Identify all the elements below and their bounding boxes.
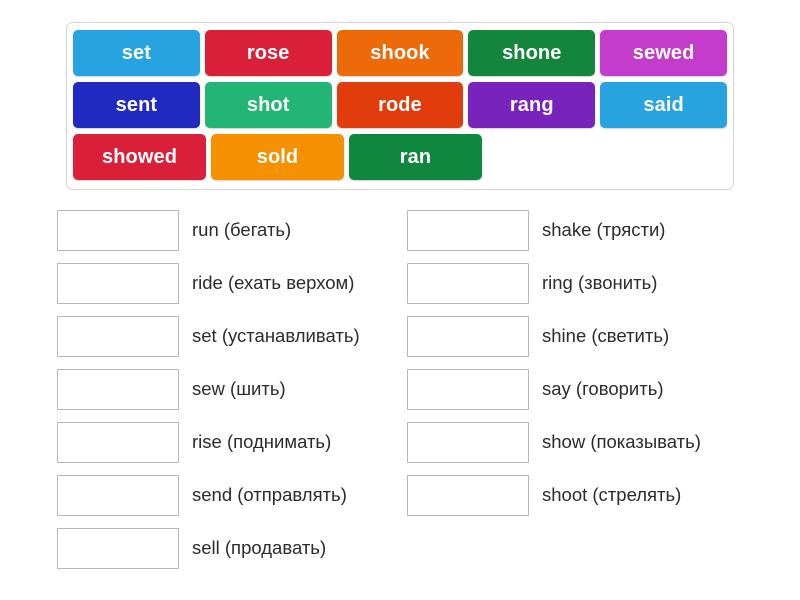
word-tile[interactable]: sold (211, 134, 344, 180)
answer-column: shake (трясти)ring (звонить)shine (свети… (407, 204, 757, 575)
verb-prompt-label: ride (ехать верхом) (192, 272, 354, 294)
verb-prompt-label: say (говорить) (542, 378, 664, 400)
verb-prompt-label: sew (шить) (192, 378, 286, 400)
drop-slot[interactable] (407, 369, 529, 410)
word-bank-row: showedsoldran (73, 134, 727, 180)
word-tile[interactable]: rode (337, 82, 464, 128)
verb-prompt-label: ring (звонить) (542, 272, 657, 294)
answer-row: rise (поднимать) (57, 416, 407, 469)
verb-prompt-label: shoot (стрелять) (542, 484, 681, 506)
word-bank-row: sentshotroderangsaid (73, 82, 727, 128)
drop-slot[interactable] (407, 316, 529, 357)
word-tile[interactable]: said (600, 82, 727, 128)
drop-slot[interactable] (57, 475, 179, 516)
word-bank-row: setroseshookshonesewed (73, 30, 727, 76)
word-tile[interactable]: rose (205, 30, 332, 76)
answer-row: ring (звонить) (407, 257, 757, 310)
answer-row: sew (шить) (57, 363, 407, 416)
drop-slot[interactable] (57, 316, 179, 357)
drop-slot[interactable] (57, 210, 179, 251)
answer-row: run (бегать) (57, 204, 407, 257)
verb-prompt-label: shine (светить) (542, 325, 669, 347)
verb-prompt-label: run (бегать) (192, 219, 291, 241)
drop-slot[interactable] (57, 422, 179, 463)
word-tile[interactable]: shot (205, 82, 332, 128)
answer-column: run (бегать)ride (ехать верхом)set (уста… (57, 204, 407, 575)
word-tile[interactable]: set (73, 30, 200, 76)
answer-row: send (отправлять) (57, 469, 407, 522)
answer-row: shoot (стрелять) (407, 469, 757, 522)
word-tile[interactable]: shook (337, 30, 464, 76)
word-tile[interactable]: rang (468, 82, 595, 128)
verb-prompt-label: rise (поднимать) (192, 431, 331, 453)
answer-list: run (бегать)ride (ехать верхом)set (уста… (57, 204, 757, 575)
word-bank-container: setroseshookshonesewedsentshotroderangsa… (66, 22, 734, 190)
word-tile[interactable]: shone (468, 30, 595, 76)
word-tile[interactable]: sent (73, 82, 200, 128)
drop-slot[interactable] (57, 369, 179, 410)
verb-prompt-label: show (показывать) (542, 431, 701, 453)
answer-row: set (устанавливать) (57, 310, 407, 363)
answer-row: say (говорить) (407, 363, 757, 416)
verb-prompt-label: shake (трясти) (542, 219, 665, 241)
answer-row: sell (продавать) (57, 522, 407, 575)
verb-prompt-label: set (устанавливать) (192, 325, 360, 347)
answer-row: shake (трясти) (407, 204, 757, 257)
verb-prompt-label: sell (продавать) (192, 537, 326, 559)
drop-slot[interactable] (407, 263, 529, 304)
drop-slot[interactable] (57, 263, 179, 304)
word-tile[interactable]: showed (73, 134, 206, 180)
drop-slot[interactable] (407, 422, 529, 463)
answer-row: shine (светить) (407, 310, 757, 363)
drop-slot[interactable] (57, 528, 179, 569)
verb-prompt-label: send (отправлять) (192, 484, 347, 506)
answer-row: ride (ехать верхом) (57, 257, 407, 310)
drop-slot[interactable] (407, 210, 529, 251)
word-tile[interactable]: sewed (600, 30, 727, 76)
answer-row: show (показывать) (407, 416, 757, 469)
exercise-page: setroseshookshonesewedsentshotroderangsa… (0, 0, 800, 600)
word-tile[interactable]: ran (349, 134, 482, 180)
drop-slot[interactable] (407, 475, 529, 516)
